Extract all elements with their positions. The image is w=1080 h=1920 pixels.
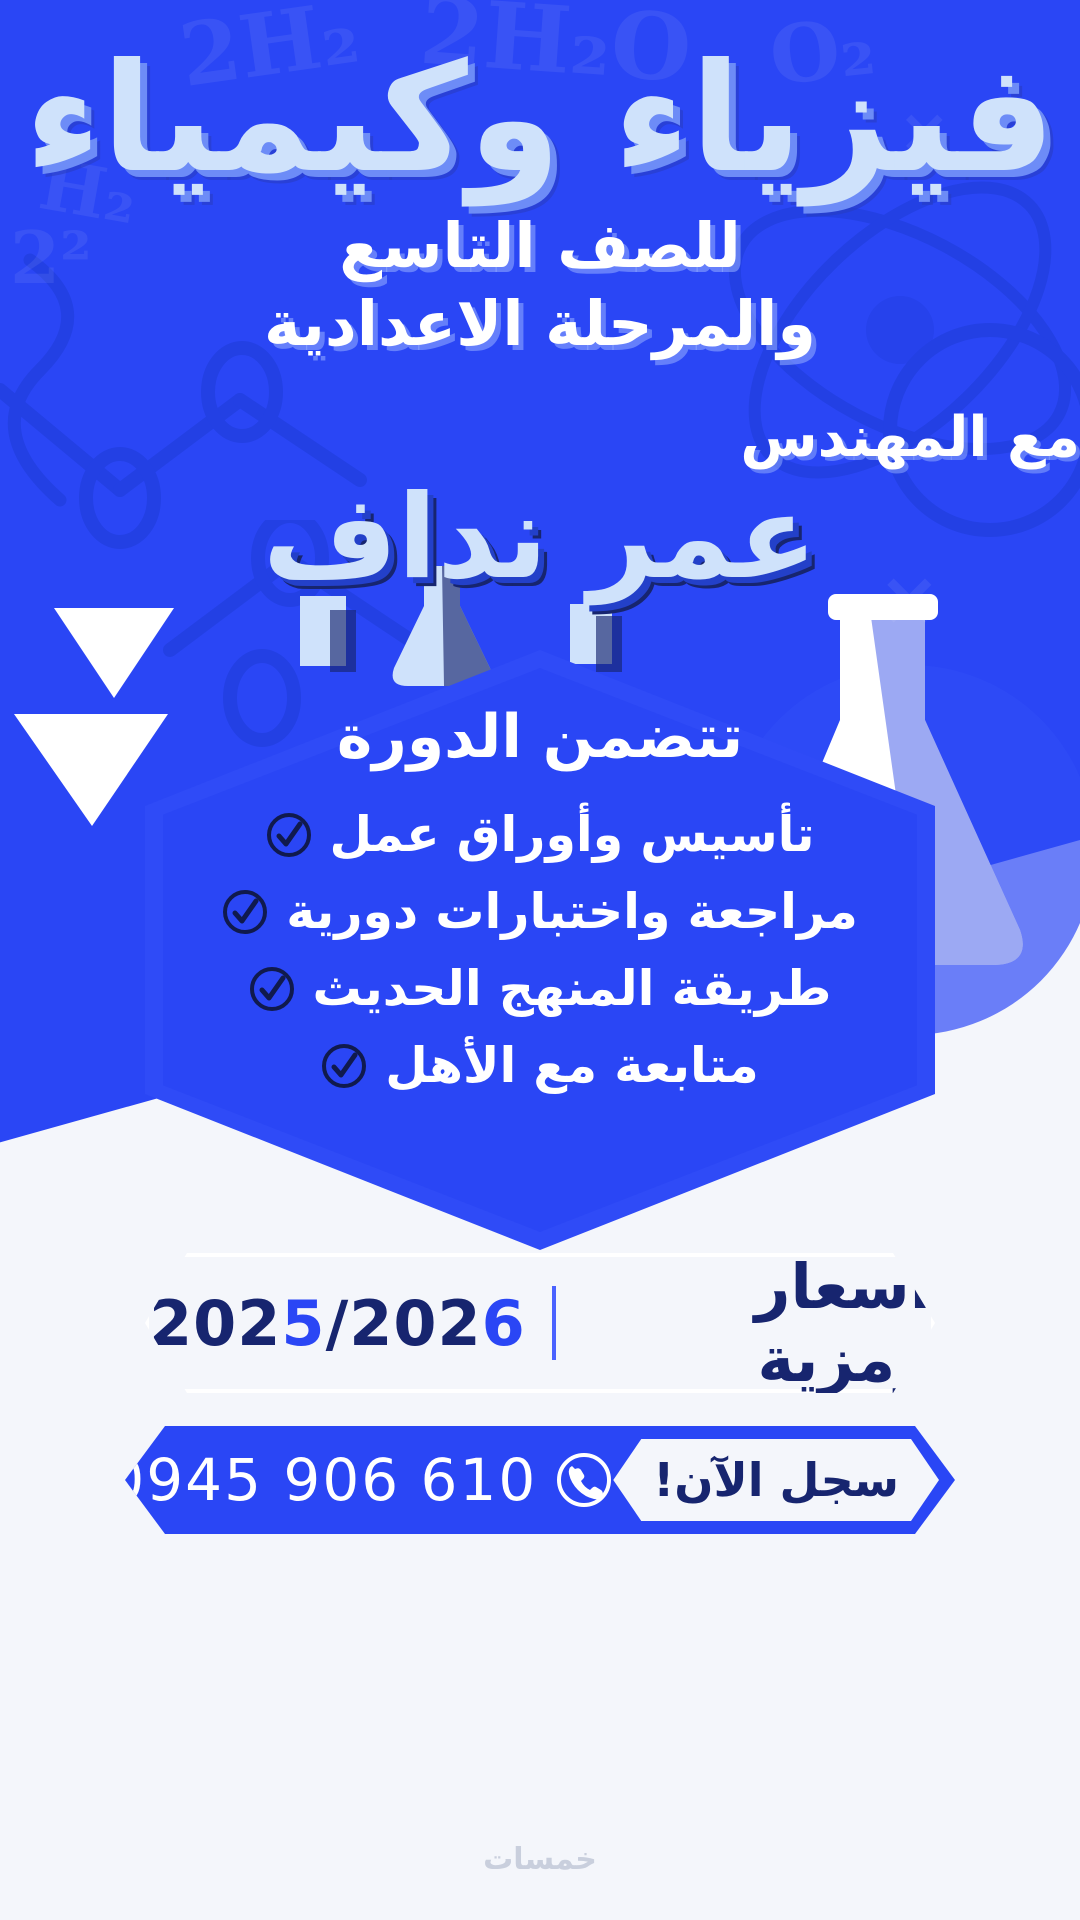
list-item: طريقة المنهج الحديث — [249, 960, 832, 1017]
instructor-label: مع المهندس — [0, 405, 1080, 470]
subtitle-line-1: للصف التاسع — [0, 208, 1080, 284]
page-title: فيزياء وكيمياء — [0, 44, 1080, 194]
phone-number: 0945 906 610 — [107, 1446, 537, 1514]
list-item: متابعة مع الأهل — [321, 1037, 758, 1094]
phone-group[interactable]: 0945 906 610 — [107, 1446, 613, 1514]
subtitle-line-2: والمرحلة الاعدادية — [0, 286, 1080, 362]
feature-label: مراجعة واختبارات دورية — [286, 883, 858, 940]
course-card-heading: تتضمن الدورة — [337, 702, 743, 772]
price-banner: أسعار رمزية 2025/2026 — [145, 1253, 935, 1393]
check-circle-icon — [249, 966, 295, 1012]
contact-cta-bar[interactable]: سجل الآن! 0945 906 610 — [125, 1426, 955, 1534]
register-button-label: سجل الآن! — [653, 1453, 899, 1507]
academic-years: 2025/2026 — [149, 1287, 526, 1360]
list-item: مراجعة واختبارات دورية — [222, 883, 858, 940]
check-circle-icon — [266, 812, 312, 858]
price-label: أسعار رمزية — [582, 1250, 931, 1396]
feature-label: متابعة مع الأهل — [385, 1037, 758, 1094]
poster-header: فيزياء وكيمياء للصف التاسع والمرحلة الاع… — [0, 0, 1080, 596]
price-divider — [552, 1286, 556, 1360]
check-circle-icon — [222, 889, 268, 935]
phone-icon — [555, 1451, 613, 1509]
feature-label: تأسيس وأوراق عمل — [330, 806, 815, 863]
check-circle-icon — [321, 1043, 367, 1089]
feature-label: طريقة المنهج الحديث — [313, 960, 832, 1017]
instructor-name: عمر نداف — [0, 480, 1080, 596]
watermark: خمسات — [483, 1842, 597, 1877]
register-button[interactable]: سجل الآن! — [613, 1439, 939, 1521]
course-features-card: تتضمن الدورة تأسيس وأوراق عمل مراجعة واخ… — [145, 650, 935, 1250]
poster-canvas: 2H₂ 2H₂O O₂ H₂ 2² ✕ ✕ ✕ ✓ فيزياء وكيمياء… — [0, 0, 1080, 1920]
course-feature-list: تأسيس وأوراق عمل مراجعة واختبارات دورية … — [145, 806, 935, 1094]
list-item: تأسيس وأوراق عمل — [266, 806, 815, 863]
